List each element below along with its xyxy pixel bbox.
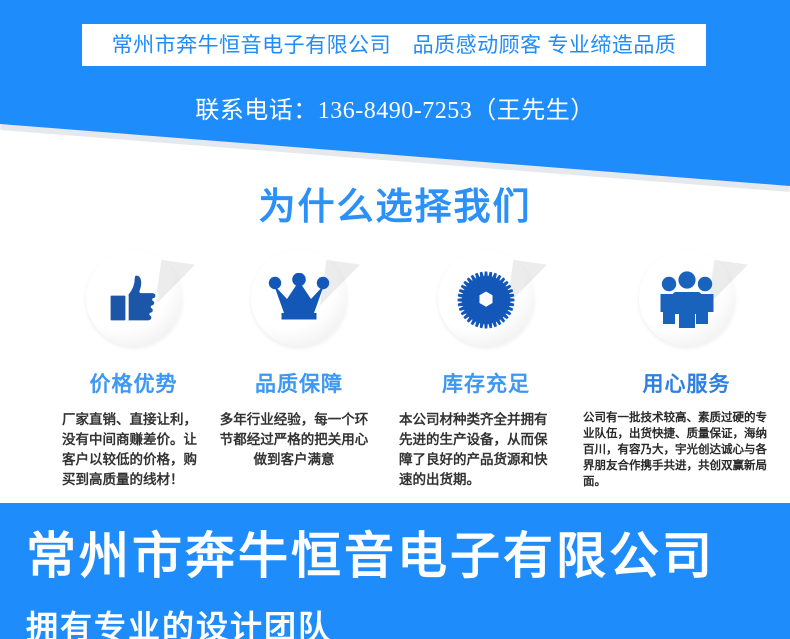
feature-list: 价格优势 厂家直销、直接让利，没有中间商赚差价。让客户以较低的价格，购买到高质量…	[0, 248, 790, 498]
feature-body: 本公司材种类齐全并拥有先进的生产设备，从而保障了良好的产品货源和快速的出货期。	[399, 410, 559, 490]
footer-company-name: 常州市奔牛恒音电子有限公司	[26, 531, 715, 581]
icon-container	[633, 248, 741, 352]
feature-item-attentive-service: 用心服务 公司有一批技术较高、素质过硬的专业队伍，出货快捷、质量保证，海纳百川，…	[573, 248, 790, 498]
company-slogan-bar: 常州市奔牛恒音电子有限公司 品质感动顾客 专业缔造品质	[82, 24, 706, 66]
company-slogan-text: 常州市奔牛恒音电子有限公司 品质感动顾客 专业缔造品质	[112, 35, 677, 56]
footer-subtitle: 拥有专业的设计团队	[26, 611, 332, 639]
promo-page: 常州市奔牛恒音电子有限公司 品质感动顾客 专业缔造品质 联系电话：136-849…	[0, 0, 790, 639]
people-group-icon	[633, 248, 741, 352]
contact-phone-line: 联系电话：136-8490-7253（王先生）	[0, 90, 790, 125]
feature-item-price-advantage: 价格优势 厂家直销、直接让利，没有中间商赚差价。让客户以较低的价格，购买到高质量…	[0, 248, 205, 498]
footer-banner: 常州市奔牛恒音电子有限公司 拥有专业的设计团队	[0, 503, 790, 639]
feature-title: 库存充足	[399, 368, 573, 398]
gear-icon	[432, 248, 540, 352]
icon-container	[80, 248, 188, 352]
feature-title: 品质保障	[213, 368, 385, 398]
thumbs-up-icon	[80, 248, 188, 352]
feature-title: 价格优势	[62, 368, 205, 398]
feature-body: 多年行业经验，每一个环节都经过严格的把关用心做到客户满意	[217, 410, 371, 470]
feature-item-stock-sufficient: 库存充足 本公司材种类齐全并拥有先进的生产设备，从而保障了良好的产品货源和快速的…	[385, 248, 573, 498]
feature-item-quality-guarantee: 品质保障 多年行业经验，每一个环节都经过严格的把关用心做到客户满意	[205, 248, 385, 498]
icon-container	[432, 248, 540, 352]
page-title: 为什么选择我们	[0, 176, 790, 230]
feature-body: 厂家直销、直接让利，没有中间商赚差价。让客户以较低的价格，购买到高质量的线材！	[62, 410, 204, 490]
icon-container	[245, 248, 353, 352]
crown-icon	[245, 248, 353, 352]
feature-title: 用心服务	[583, 368, 790, 398]
feature-body: 公司有一批技术较高、素质过硬的专业队伍，出货快捷、质量保证，海纳百川，有容乃大，…	[583, 410, 773, 490]
